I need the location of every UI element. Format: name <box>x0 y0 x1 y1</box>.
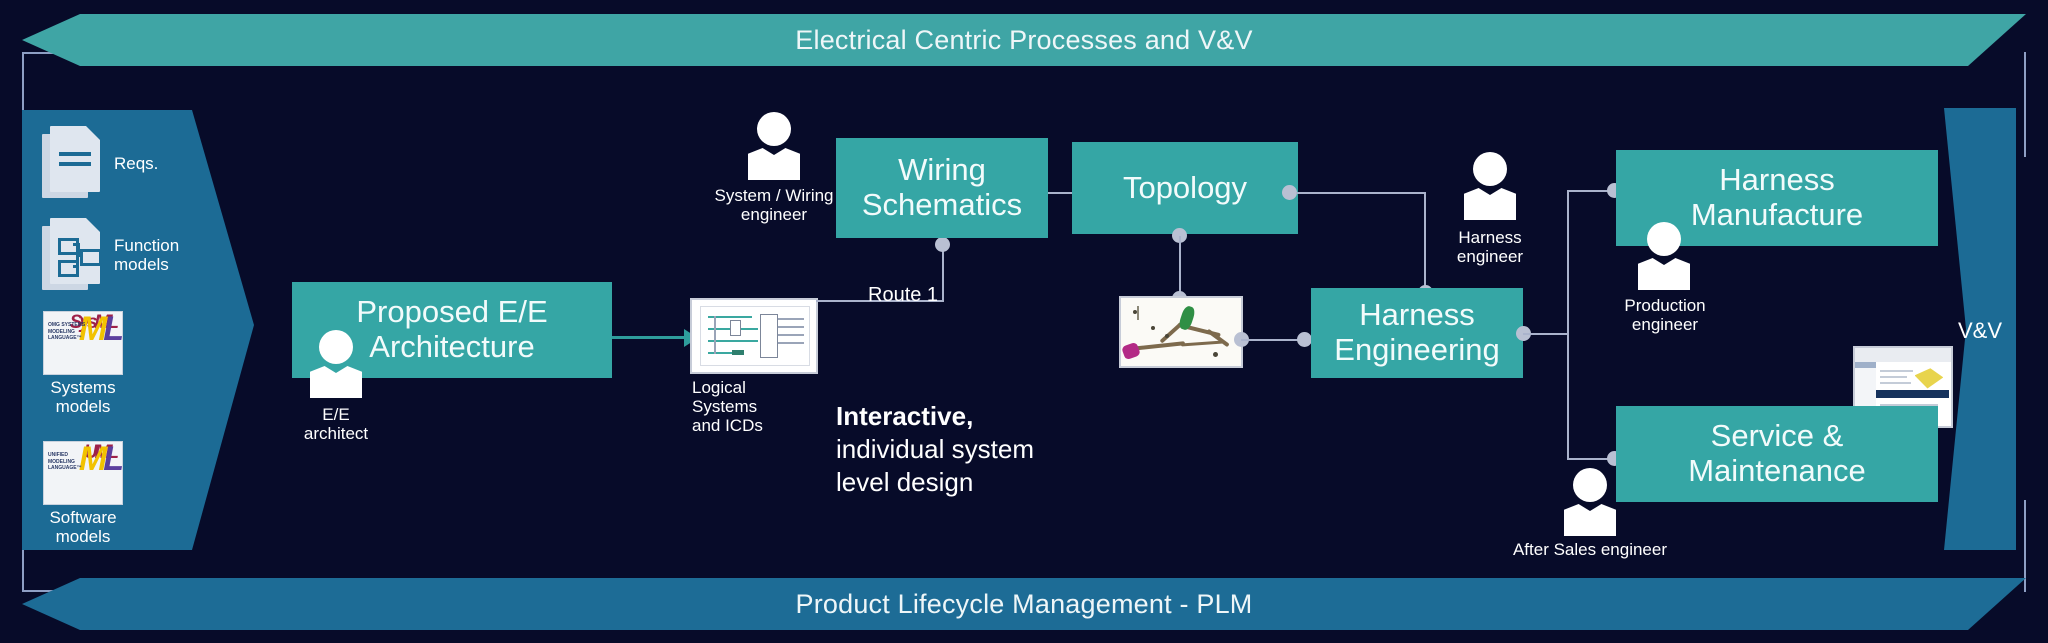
connector-harness-fanout-vertical <box>1567 190 1569 460</box>
input-label-function-models: Function models <box>114 236 179 274</box>
sysml-logo-caption: OMG SYSTEMS MODELING LANGUAGE™ <box>48 322 88 342</box>
annotation-interactive-design: Interactive, individual system level des… <box>836 400 1034 499</box>
input-label-reqs: Reqs. <box>114 154 158 173</box>
annotation-line-1: Interactive, <box>836 400 1034 433</box>
connector-wiring-to-topology <box>1048 192 1072 194</box>
role-label-system-wiring-engineer: System / Wiring engineer <box>688 186 860 224</box>
role-label-harness-engineer: Harness engineer <box>1424 228 1556 266</box>
sysml-logo-icon: SysML ML OMG SYSTEMS MODELING LANGUAGE™ <box>44 312 122 374</box>
input-item-systems-models: SysML ML OMG SYSTEMS MODELING LANGUAGE™ … <box>44 312 122 416</box>
arrow-architecture-to-logical <box>612 336 686 339</box>
connector-topology-to-thumb-vertical <box>1179 236 1181 298</box>
connector-dot-topology-right <box>1282 185 1297 200</box>
frame-line-right-top <box>2024 52 2026 157</box>
artifact-label-logical-systems-icds: Logical Systems and ICDs <box>692 378 812 435</box>
process-box-topology[interactable]: Topology <box>1072 142 1298 234</box>
vv-bar-label: V&V <box>1944 318 2016 344</box>
role-label-after-sales-engineer: After Sales engineer <box>1490 540 1690 559</box>
annotation-line-3: level design <box>836 466 1034 499</box>
harness-topology-thumbnail[interactable] <box>1121 298 1241 366</box>
input-label-software-models: Software models <box>44 508 122 546</box>
connector-route1-vertical <box>942 244 944 302</box>
ee-architect-person-icon <box>310 330 362 396</box>
uml-logo-icon: UML ML UNIFIED MODELING LANGUAGE™ <box>44 442 122 504</box>
process-box-harness-engineering[interactable]: Harness Engineering <box>1311 288 1523 378</box>
harness-engineer-person-icon <box>1464 152 1516 218</box>
system-wiring-engineer-person-icon <box>748 112 800 178</box>
connector-label-route-1: Route 1 <box>868 284 938 307</box>
banner-product-lifecycle-management: Product Lifecycle Management - PLM <box>22 578 2026 630</box>
input-item-software-models: UML ML UNIFIED MODELING LANGUAGE™ Softwa… <box>44 442 122 546</box>
connector-dot-wiring-schematics-bottom <box>935 237 950 252</box>
connector-thumb-to-harness-engineering <box>1241 339 1303 341</box>
input-label-systems-models: Systems models <box>44 378 122 416</box>
function-model-document-icon <box>42 218 106 292</box>
connector-dot-harness-engineering-left <box>1297 332 1312 347</box>
role-label-production-engineer: Production engineer <box>1604 296 1726 334</box>
diagram-canvas: Electrical Centric Processes and V&V Pro… <box>0 0 2048 643</box>
input-item-function-models: Function models <box>42 218 179 292</box>
connector-topology-right-horizontal <box>1296 192 1426 194</box>
role-label-ee-architect: E/E architect <box>280 405 392 443</box>
wiring-schematic-thumbnail[interactable] <box>692 300 816 372</box>
banner-electrical-centric-processes: Electrical Centric Processes and V&V <box>22 14 2026 66</box>
input-item-reqs: Reqs. <box>42 126 158 200</box>
annotation-line-2: individual system <box>836 433 1034 466</box>
uml-logo-caption: UNIFIED MODELING LANGUAGE™ <box>48 452 88 472</box>
production-engineer-person-icon <box>1638 222 1690 288</box>
process-box-wiring-schematics[interactable]: Wiring Schematics <box>836 138 1048 238</box>
document-stack-icon <box>42 126 106 200</box>
after-sales-engineer-person-icon <box>1564 468 1616 534</box>
process-box-service-maintenance[interactable]: Service & Maintenance <box>1616 406 1938 502</box>
connector-harness-fanout-horizontal <box>1523 333 1569 335</box>
